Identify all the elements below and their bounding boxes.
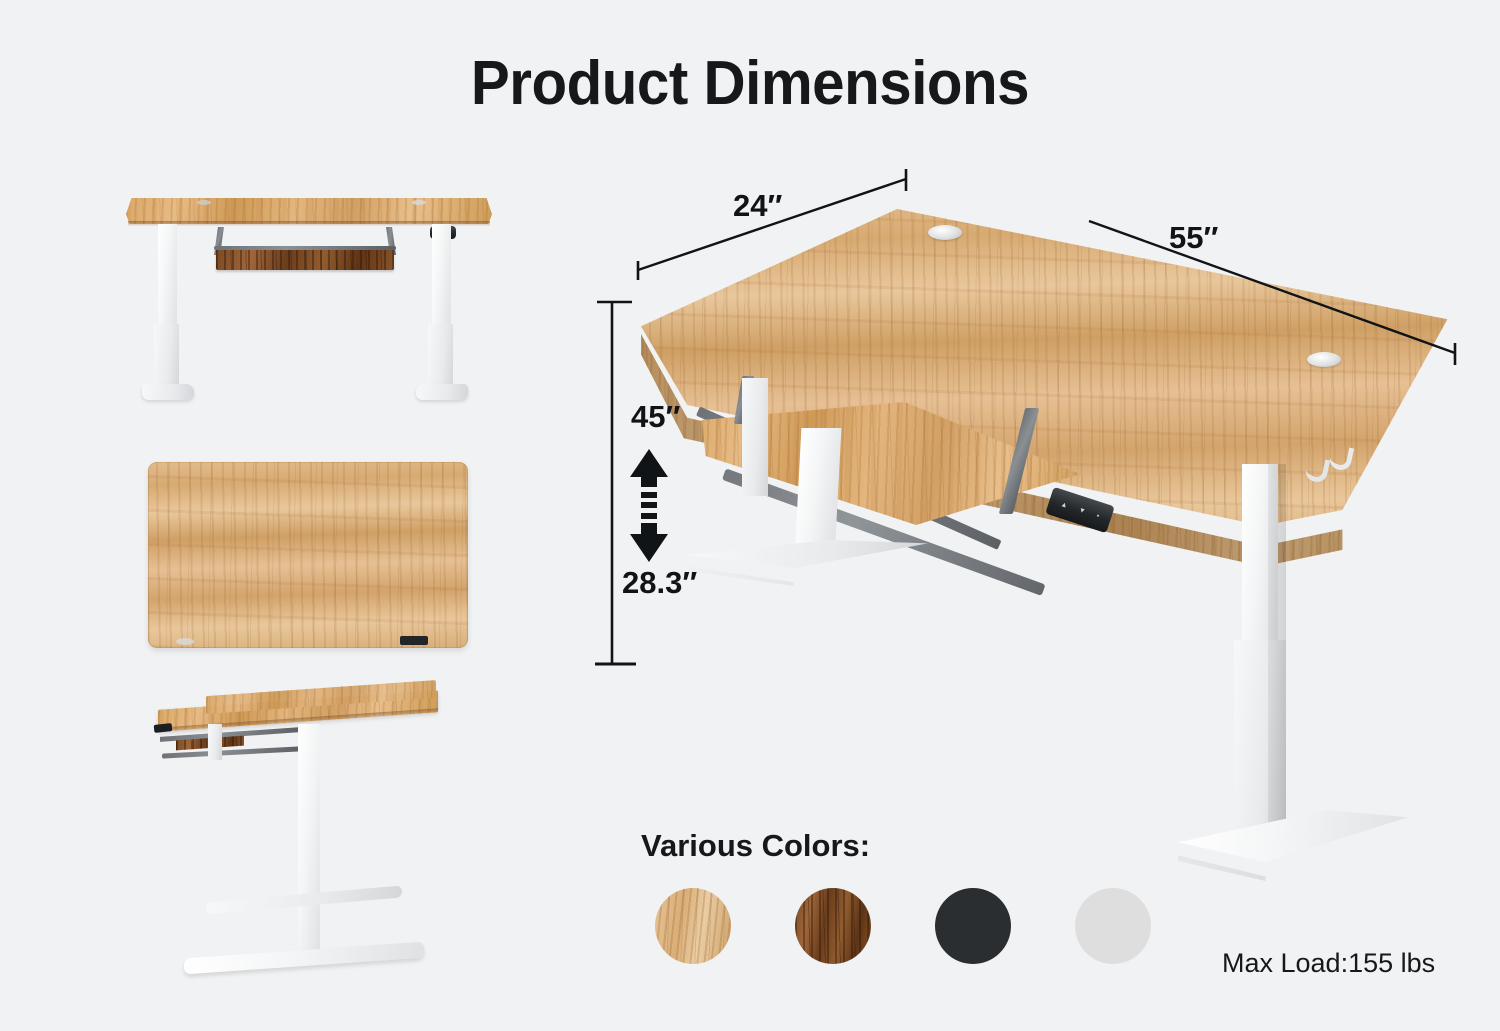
front-view-keyboard-tray [216, 248, 394, 270]
height-min-label: 28.3″ [622, 565, 697, 601]
hero-foot-near [1178, 810, 1408, 862]
page-title: Product Dimensions [45, 48, 1455, 119]
height-range-arrows-icon [622, 447, 682, 565]
front-view-leg-left-upper [158, 224, 177, 328]
color-swatch-list [655, 888, 1151, 964]
width-dimension-line [1085, 215, 1475, 365]
hero-leg-far-upper [742, 378, 768, 496]
color-swatch-rustic-brown-wood[interactable] [795, 888, 871, 964]
color-swatch-natural-light-wood[interactable] [655, 888, 731, 964]
hero-grommet-rear [928, 225, 962, 240]
hero-foot-far [688, 540, 928, 568]
front-view-grommet-left [197, 200, 211, 205]
height-max-label: 45″ [631, 399, 680, 435]
front-view-foot-left [142, 384, 194, 400]
width-dimension-label: 55″ [1169, 220, 1218, 256]
product-dimensions-infographic: Product Dimensions ▲▼ [0, 0, 1500, 1031]
control-panel-up-icon[interactable]: ▲ [1060, 500, 1069, 509]
hero-leg-far-lower [795, 428, 842, 558]
front-view-grommet-right [412, 200, 426, 205]
hero-control-panel[interactable]: ▲ ▼ ▪ [1045, 487, 1115, 533]
side-view-column-far [208, 724, 222, 760]
max-load-label: Max Load:155 lbs [1222, 948, 1435, 979]
front-view-leg-right-lower [428, 324, 453, 392]
top-view-grommet-cap [176, 638, 194, 645]
depth-dimension-label: 24″ [733, 188, 782, 224]
top-view-edge-highlight [148, 462, 468, 648]
control-panel-down-icon[interactable]: ▼ [1078, 506, 1087, 515]
control-panel-preset-icon[interactable]: ▪ [1096, 512, 1101, 519]
side-view-thumbnail [148, 676, 478, 996]
front-view-tray-rail [214, 246, 396, 250]
top-view-thumbnail [148, 462, 468, 654]
front-view-leg-left-lower [154, 324, 179, 392]
color-swatch-black[interactable] [935, 888, 1011, 964]
front-view-foot-right [416, 384, 468, 400]
top-view-control-panel[interactable] [400, 636, 428, 645]
front-view-thumbnail: ▲▼ [112, 188, 504, 436]
hero-leg-near-shade [1268, 464, 1286, 840]
side-view-column-near [298, 724, 320, 956]
color-swatch-white[interactable] [1075, 888, 1151, 964]
various-colors-heading: Various Colors: [641, 828, 870, 864]
front-view-leg-right-upper [432, 224, 451, 328]
